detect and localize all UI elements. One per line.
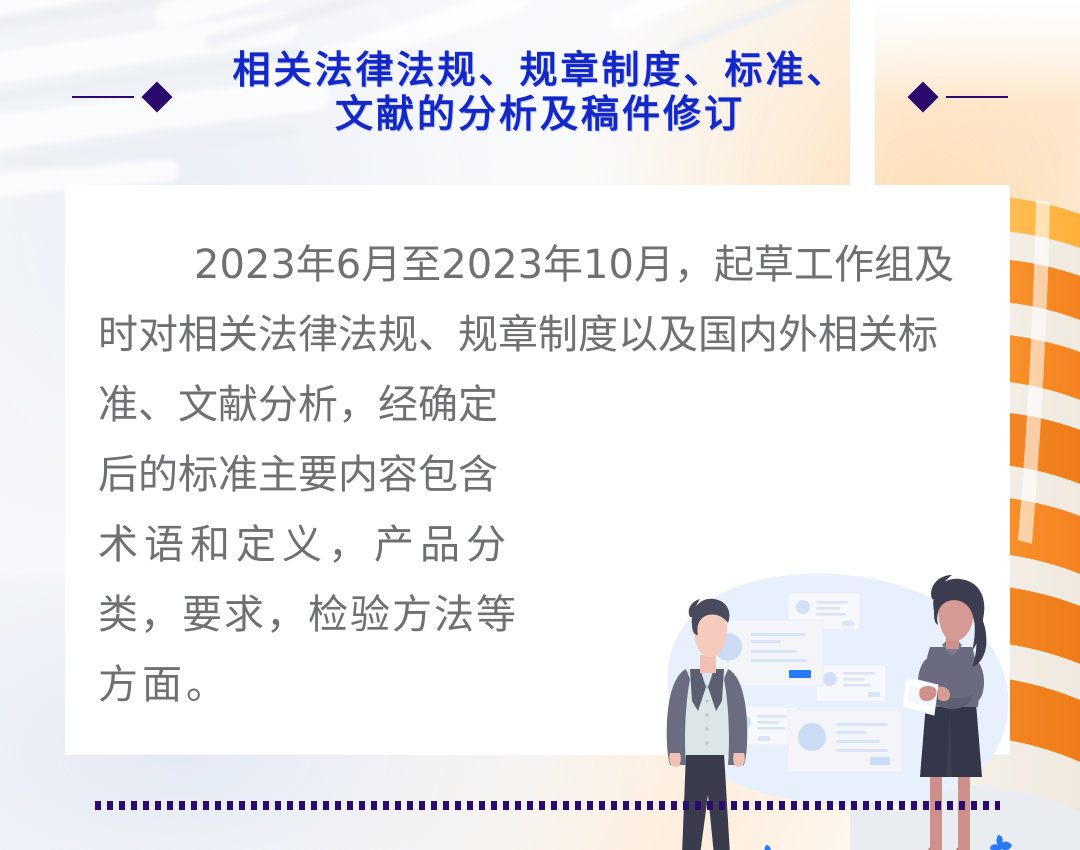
page-title-line-1: 相关法律法规、规章制度、标准、 bbox=[0, 48, 1080, 92]
document-card bbox=[816, 665, 886, 701]
card-action-chip bbox=[870, 757, 890, 765]
slide-canvas: 相关法律法规、规章制度、标准、 文献的分析及稿件修订 2023年6月至2023年… bbox=[0, 0, 1080, 850]
body-line-4: 后的标准主要内容包含 bbox=[98, 440, 698, 510]
plant-icon bbox=[758, 845, 780, 850]
body-line-1: 2023年6月至2023年10月，起草工作组及 bbox=[98, 230, 978, 300]
card-action-button bbox=[789, 670, 811, 678]
body-line-7: 方面。 bbox=[98, 650, 698, 720]
bottom-dotted-rule bbox=[95, 801, 1000, 810]
body-line-1-text: 2023年6月至2023年10月，起草工作组及 bbox=[194, 242, 954, 288]
body-line-6: 类，要求，检验方法等 bbox=[98, 580, 698, 650]
body-copy: 2023年6月至2023年10月，起草工作组及 时对相关法律法规、规章制度以及国… bbox=[98, 230, 698, 720]
body-line-2: 时对相关法律法规、规章制度以及国内外相关标 bbox=[98, 300, 978, 370]
page-title-line-2: 文献的分析及稿件修订 bbox=[0, 92, 1080, 136]
page-title: 相关法律法规、规章制度、标准、 文献的分析及稿件修订 bbox=[0, 48, 1080, 136]
body-line-5: 术语和定义，产品分 bbox=[98, 510, 698, 580]
plant-icon bbox=[990, 835, 1012, 850]
body-line-3: 准、文献分析，经确定 bbox=[98, 370, 698, 440]
document-card-secondary bbox=[788, 710, 902, 772]
content-panel: 2023年6月至2023年10月，起草工作组及 时对相关法律法规、规章制度以及国… bbox=[65, 185, 1010, 755]
